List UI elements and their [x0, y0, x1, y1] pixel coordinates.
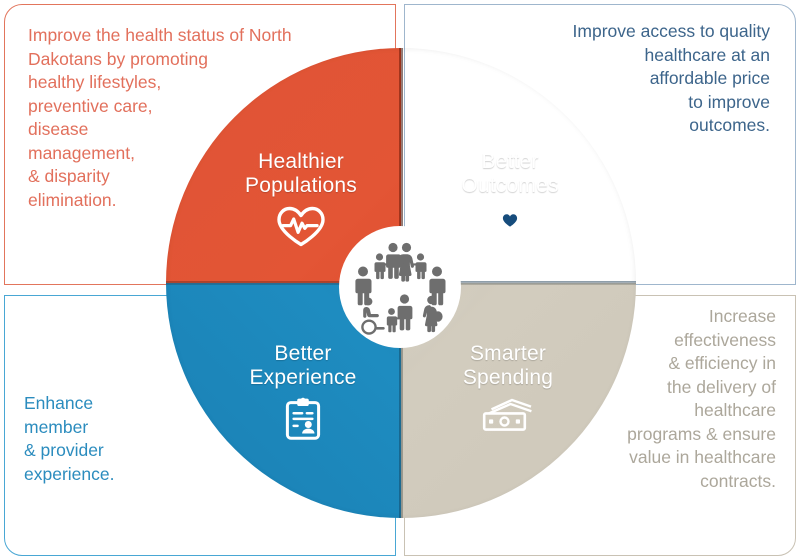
desc-line: Dakotans by promoting — [28, 48, 358, 72]
group-of-people-icon — [344, 231, 456, 343]
description-better-experience: Enhance member & provider experience. — [24, 392, 224, 486]
desc-line: & provider — [24, 439, 224, 463]
desc-line: & disparity — [28, 165, 358, 189]
description-better-outcomes: Improve access to quality healthcare at … — [440, 20, 770, 138]
description-smarter-spending: Increase effectiveness & efficiency in t… — [576, 305, 776, 493]
desc-line: the delivery of — [576, 376, 776, 400]
desc-line: disease — [28, 118, 358, 142]
desc-line: Enhance — [24, 392, 224, 416]
desc-line: & efficiency in — [576, 352, 776, 376]
desc-line: healthcare at an — [440, 44, 770, 68]
desc-line: to improve — [440, 91, 770, 115]
desc-line: preventive care, — [28, 95, 358, 119]
description-healthier-populations: Improve the health status of North Dakot… — [28, 24, 358, 212]
desc-line: affordable price — [440, 67, 770, 91]
desc-line: effectiveness — [576, 329, 776, 353]
desc-line: experience. — [24, 463, 224, 487]
quadruple-aim-diagram: Healthier Populations Better Outcomes Be… — [0, 0, 800, 560]
desc-line: healthcare — [576, 399, 776, 423]
desc-line: value in healthcare — [576, 446, 776, 470]
desc-line: healthy lifestyles, — [28, 71, 358, 95]
desc-line: member — [24, 416, 224, 440]
desc-line: Increase — [576, 305, 776, 329]
desc-line: contracts. — [576, 470, 776, 494]
desc-line: management, — [28, 142, 358, 166]
center-people-circle — [341, 228, 459, 346]
desc-line: outcomes. — [440, 114, 770, 138]
desc-line: programs & ensure — [576, 423, 776, 447]
desc-line: Improve the health status of North — [28, 24, 358, 48]
desc-line: elimination. — [28, 189, 358, 213]
desc-line: Improve access to quality — [440, 20, 770, 44]
